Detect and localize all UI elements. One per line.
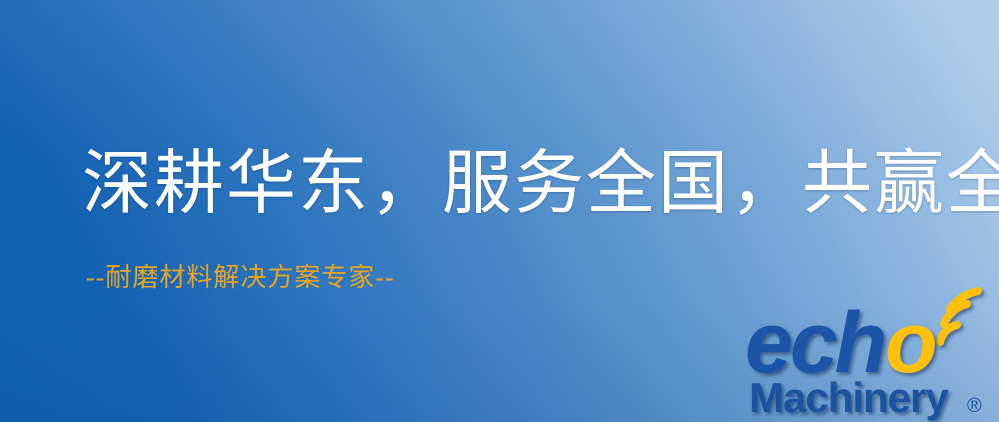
page-title: 深耕华东，服务全国，共赢全球 [82,150,999,220]
hero-banner: 深耕华东，服务全国，共赢全球 --耐磨材料解决方案专家-- ech o Mach… [0,0,999,422]
echo-machinery-logo[interactable]: ech o Machinery ® [745,296,999,422]
page-subtitle: --耐磨材料解决方案专家-- [86,264,395,293]
logo-text-machinery: Machinery [749,374,949,421]
registered-trademark-icon: ® [967,395,982,417]
signal-wave-icon [940,291,978,342]
